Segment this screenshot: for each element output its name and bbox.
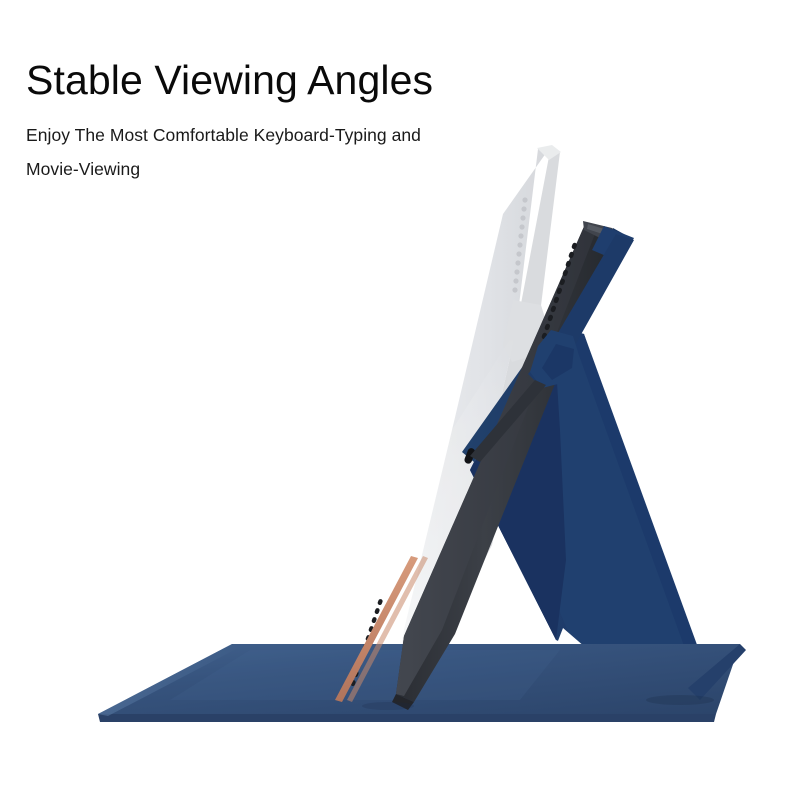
product-marketing-image: Stable Viewing Angles Enjoy The Most Com… (0, 0, 800, 800)
header-text-block: Stable Viewing Angles Enjoy The Most Com… (26, 58, 546, 187)
page-title: Stable Viewing Angles (26, 58, 546, 102)
case-base-flap-front-edge (98, 714, 716, 722)
page-subtitle: Enjoy The Most Comfortable Keyboard-Typi… (26, 118, 466, 186)
shadow-tablet-base (362, 702, 414, 710)
shadow-stand-base (646, 695, 714, 705)
